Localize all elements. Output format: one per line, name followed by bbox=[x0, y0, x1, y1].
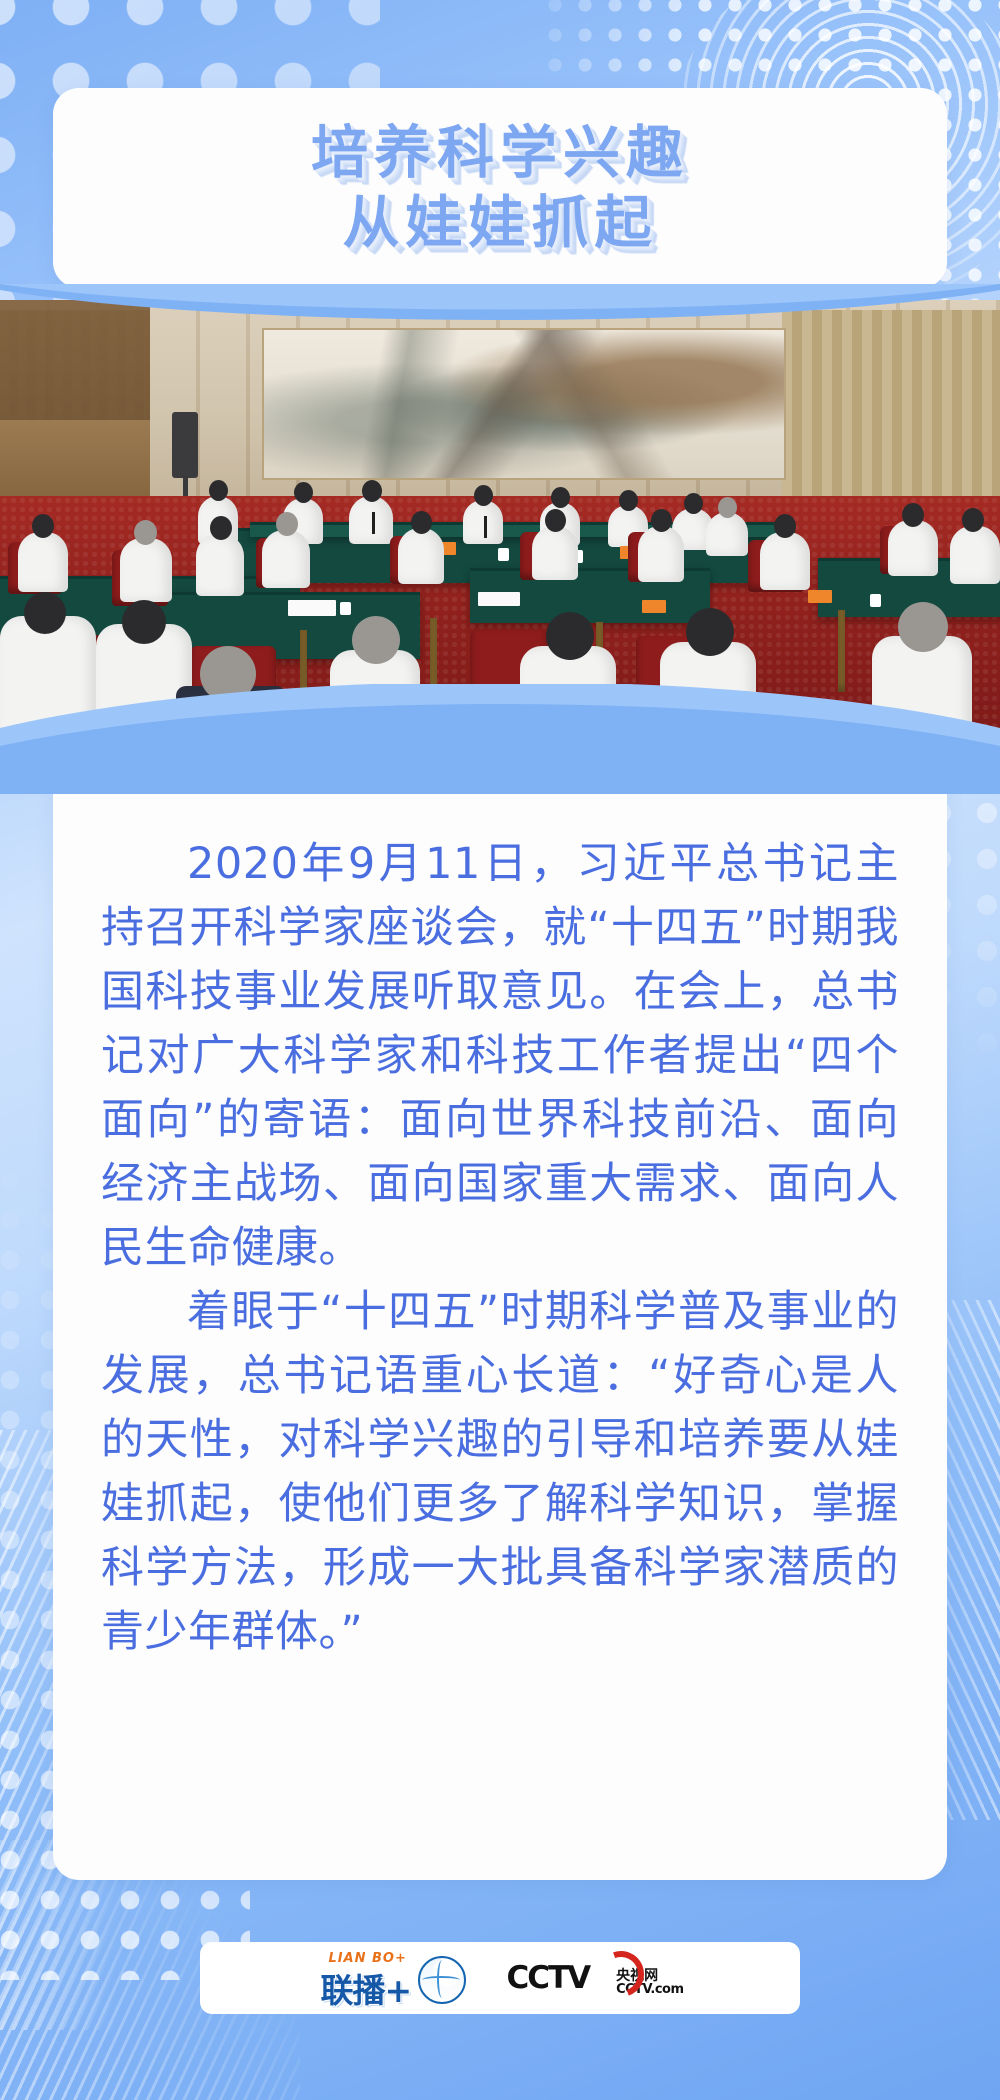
globe-icon bbox=[418, 1956, 466, 2004]
photo-head bbox=[962, 508, 984, 532]
wave-divider-bottom bbox=[0, 684, 1000, 794]
photo-head bbox=[352, 616, 400, 664]
painting-mountains bbox=[264, 330, 784, 478]
photo-teacup bbox=[498, 548, 509, 561]
photo-teacup bbox=[870, 594, 881, 607]
photo-head bbox=[24, 592, 66, 634]
photo-name-card bbox=[808, 590, 832, 603]
body-paragraph-1: 2020年9月11日，习近平总书记主持召开科学家座谈会，就“十四五”时期我国科技… bbox=[101, 832, 899, 1280]
title-card: 培养科学兴趣 从娃娃抓起 bbox=[53, 88, 947, 288]
meeting-photo bbox=[0, 300, 1000, 750]
photo-curtain-right bbox=[782, 310, 1000, 500]
title-line-1: 培养科学兴趣 bbox=[53, 122, 947, 184]
photo-chair-leg bbox=[838, 610, 845, 692]
photo-head bbox=[210, 516, 232, 540]
poster-title: 培养科学兴趣 从娃娃抓起 bbox=[53, 122, 947, 254]
photo-head bbox=[411, 511, 432, 534]
photo-person bbox=[638, 526, 684, 582]
photo-microphone bbox=[484, 516, 487, 538]
footer-logo-bar: LIAN BO+ 联播+ CCTV 央视网 CCTV.com bbox=[200, 1942, 800, 2014]
photo-person bbox=[398, 528, 444, 584]
cctv-wordmark: CCTV bbox=[506, 1960, 589, 1996]
photo-head bbox=[545, 509, 566, 532]
photo-person bbox=[18, 532, 68, 592]
body-text-card: 2020年9月11日，习近平总书记主持召开科学家座谈会，就“十四五”时期我国科技… bbox=[53, 770, 947, 1880]
photo-head bbox=[902, 503, 924, 527]
photo-person bbox=[262, 530, 310, 588]
body-paragraph-2: 着眼于“十四五”时期科学普及事业的发展，总书记语重心长道：“好奇心是人的天性，对… bbox=[101, 1280, 899, 1664]
photo-landscape-painting bbox=[262, 328, 786, 480]
photo-head bbox=[551, 487, 570, 508]
photo-person bbox=[888, 520, 938, 576]
photo-head bbox=[898, 602, 948, 652]
meeting-photo-scene bbox=[0, 300, 1000, 750]
photo-person bbox=[120, 538, 172, 602]
photo-head bbox=[651, 509, 672, 532]
photo-head bbox=[546, 612, 594, 660]
photo-head bbox=[718, 497, 737, 518]
poster-root: 培养科学兴趣 从娃娃抓起 bbox=[0, 0, 1000, 2100]
photo-notebook bbox=[478, 592, 520, 606]
lianbo-logo[interactable]: LIAN BO+ 联播+ bbox=[316, 1951, 466, 2005]
photo-speaker bbox=[172, 412, 198, 478]
photo-head bbox=[774, 514, 796, 538]
photo-teacup bbox=[340, 602, 351, 615]
photo-person bbox=[706, 512, 748, 556]
photo-head bbox=[619, 490, 638, 511]
photo-person bbox=[463, 500, 503, 544]
photo-head bbox=[276, 512, 298, 536]
photo-person bbox=[349, 496, 393, 544]
photo-head bbox=[362, 480, 382, 502]
body-copy: 2020年9月11日，习近平总书记主持召开科学家座谈会，就“十四五”时期我国科技… bbox=[101, 832, 899, 1664]
photo-head bbox=[32, 514, 54, 538]
photo-person bbox=[196, 534, 244, 596]
photo-microphone bbox=[372, 512, 375, 534]
photo-head bbox=[294, 482, 313, 503]
photo-head bbox=[684, 493, 703, 514]
photo-head bbox=[686, 608, 734, 656]
photo-person bbox=[532, 526, 578, 580]
lianbo-chinese-text: 联播+ bbox=[320, 1964, 411, 2012]
cctv-logo[interactable]: CCTV 央视网 CCTV.com bbox=[506, 1960, 683, 1996]
title-line-2: 从娃娃抓起 bbox=[53, 192, 947, 254]
photo-wall-left-lower bbox=[0, 420, 150, 500]
photo-name-card bbox=[642, 600, 666, 613]
photo-person bbox=[950, 526, 1000, 584]
wave-divider-top bbox=[0, 284, 1000, 330]
photo-head bbox=[209, 480, 228, 501]
photo-head bbox=[134, 520, 157, 545]
photo-head bbox=[474, 485, 493, 506]
photo-head bbox=[122, 600, 166, 644]
photo-notebook bbox=[288, 600, 336, 616]
photo-person bbox=[760, 532, 810, 590]
